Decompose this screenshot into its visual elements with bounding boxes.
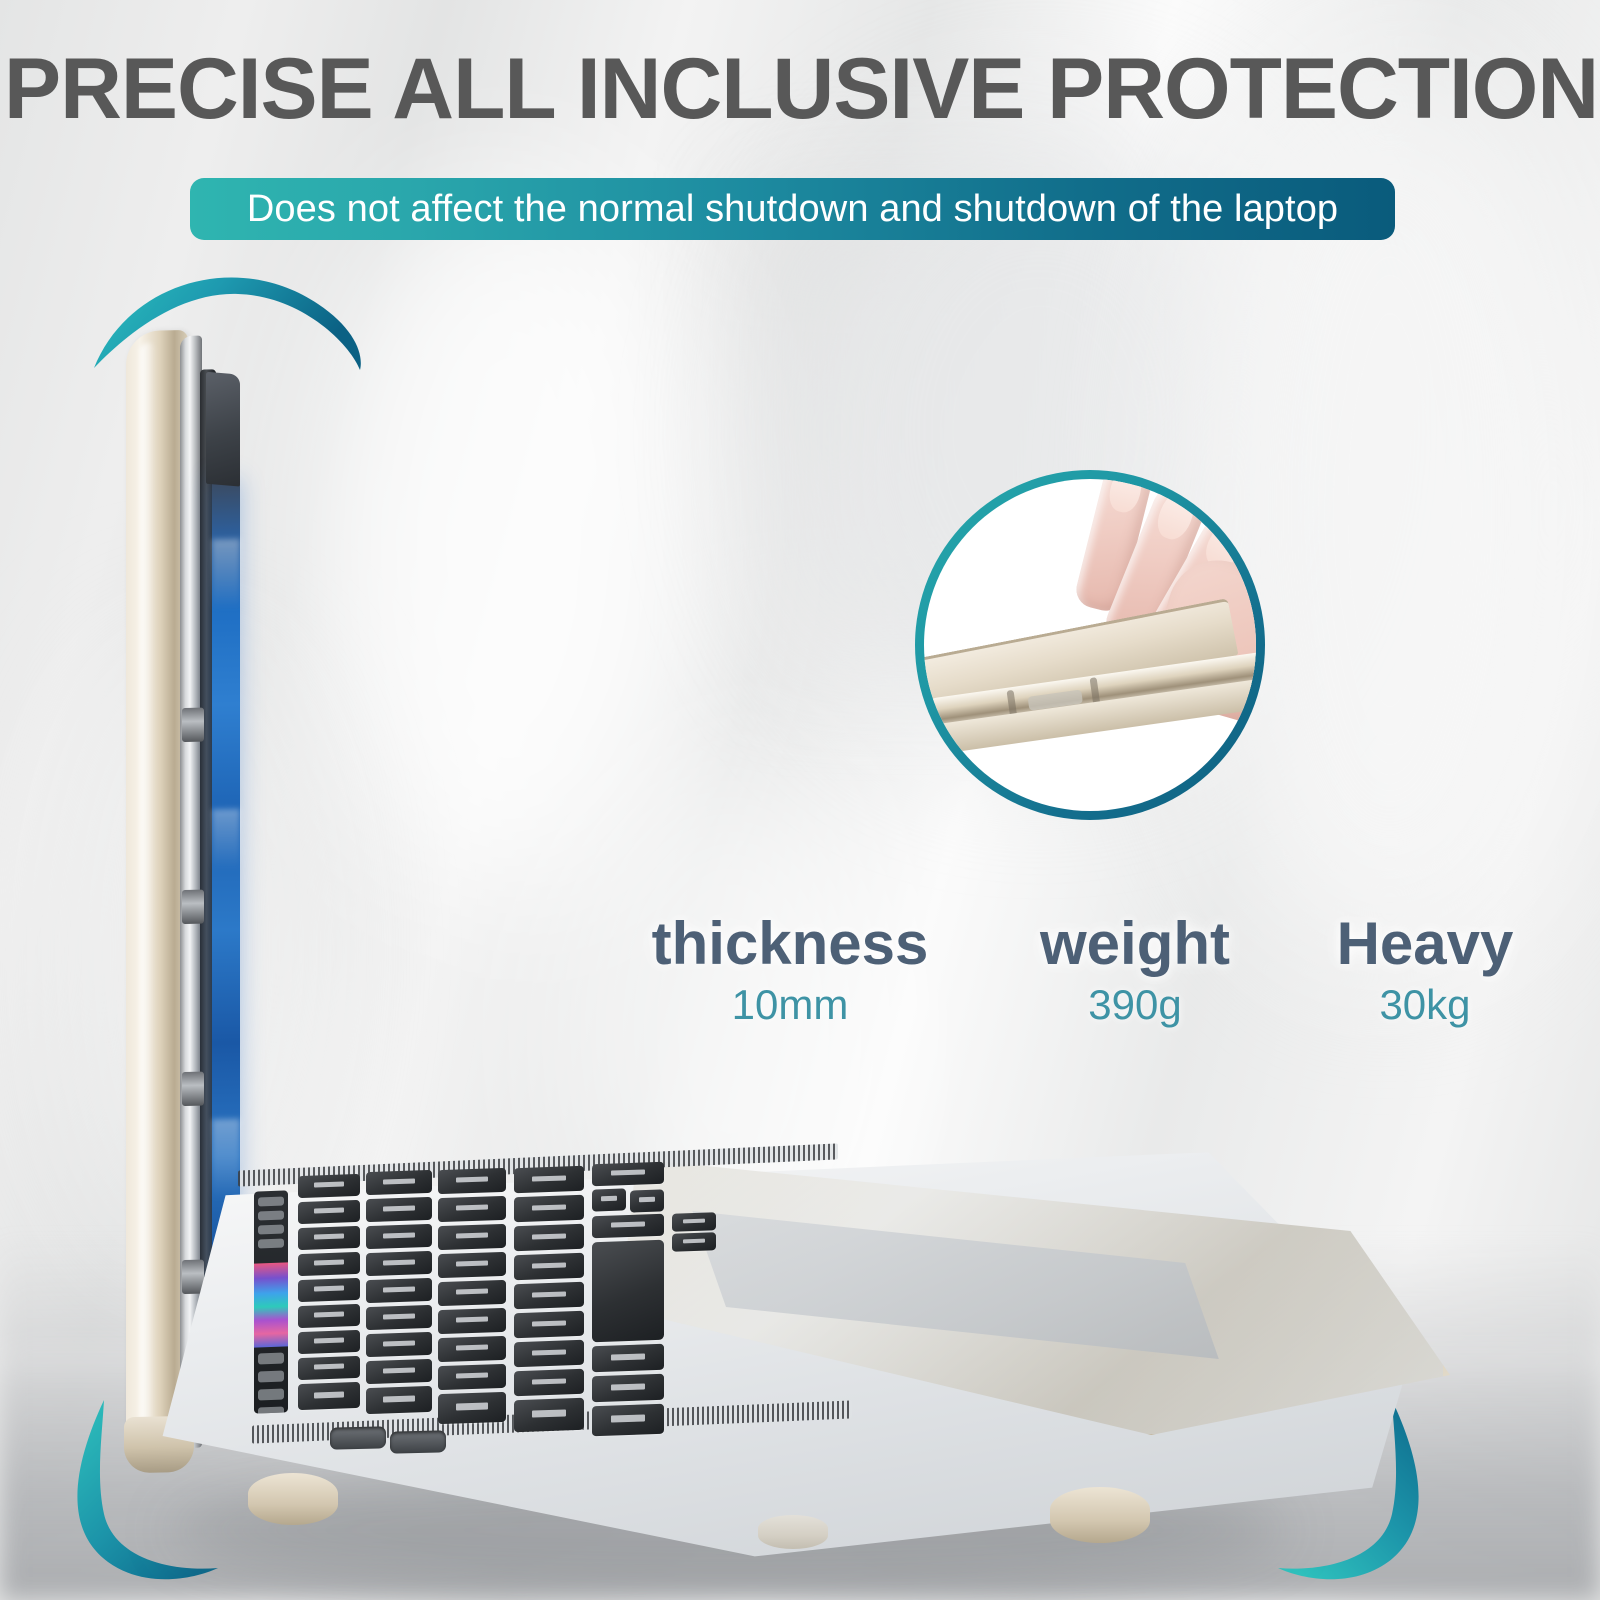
case-clip xyxy=(182,708,204,742)
case-foot xyxy=(248,1473,338,1525)
keyboard xyxy=(242,1169,862,1469)
case-clip xyxy=(182,1072,204,1106)
lid-screen-top-edge xyxy=(206,372,240,487)
touch-bar-colorstrip xyxy=(254,1262,288,1347)
laptop-deck xyxy=(150,1135,1410,1565)
usb-c-port xyxy=(390,1430,446,1453)
space-bar[interactable] xyxy=(592,1240,664,1343)
case-foot xyxy=(1050,1487,1150,1543)
touch-bar[interactable] xyxy=(254,1190,288,1413)
laptop-with-clear-case xyxy=(0,0,1600,1600)
case-foot xyxy=(758,1515,828,1549)
usb-c-port xyxy=(330,1426,386,1449)
case-clip xyxy=(182,890,204,924)
